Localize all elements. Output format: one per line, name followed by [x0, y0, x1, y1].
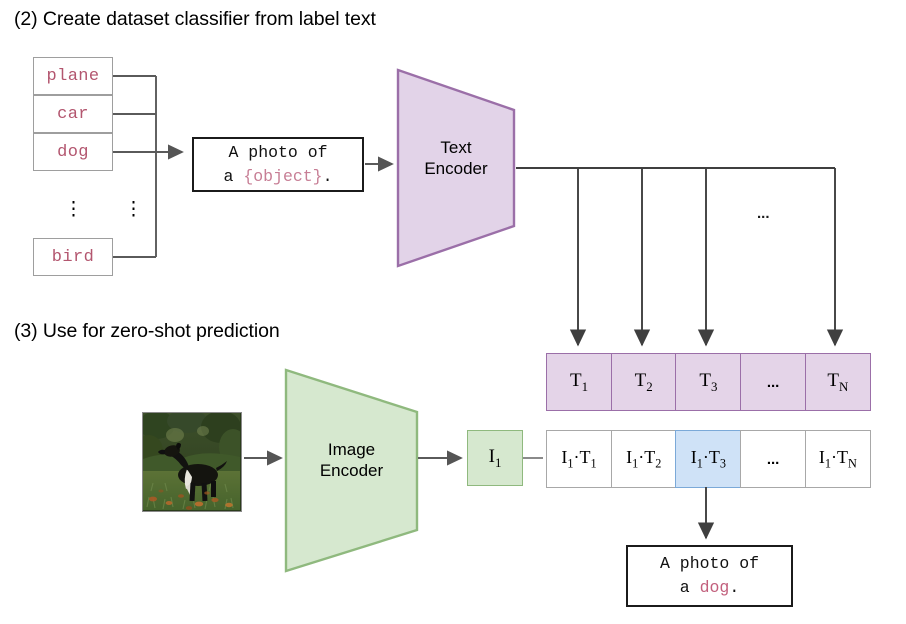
dot-product-cell-3-selected[interactable]: I1·T3	[675, 430, 741, 488]
label-text-dog: dog	[57, 143, 89, 162]
bus-ellipsis: ...	[757, 205, 770, 222]
input-photo-thumbnail[interactable]	[142, 412, 242, 512]
label-box-plane[interactable]: plane	[33, 57, 113, 95]
text-feature-cell-ellipsis: ...	[740, 353, 806, 411]
label-text-bird: bird	[52, 248, 94, 267]
output-line-2-suffix: .	[729, 578, 739, 597]
sub-t-1: 1	[591, 456, 597, 470]
heading-step-3: (3) Use for zero-shot prediction	[14, 320, 280, 343]
image-encoder[interactable]: Image Encoder	[284, 368, 419, 573]
output-line-2-prefix: a	[680, 578, 700, 597]
sub-i-2: 1	[632, 456, 638, 470]
label-box-dog[interactable]: dog	[33, 133, 113, 171]
label-text-car: car	[57, 105, 89, 124]
dot-product-label-ellipsis: ...	[767, 451, 780, 468]
text-feature-label-t2: T2	[635, 370, 653, 395]
text-feature-label-t1: T1	[570, 370, 588, 395]
vertical-ellipsis-labels: ⋮	[64, 200, 82, 219]
sub-i-1: 1	[567, 456, 573, 470]
text-encoder[interactable]: Text Encoder	[396, 68, 516, 268]
prediction-output-box[interactable]: A photo of a dog.	[626, 545, 793, 607]
text-feature-label-ellipsis: ...	[767, 374, 780, 391]
dog-photo-illustration	[143, 413, 240, 510]
sub-t-n: N	[848, 456, 857, 470]
prompt-line-2: a {object}.	[224, 165, 333, 189]
dot-product-cell-1[interactable]: I1·T1	[546, 430, 612, 488]
text-encoder-shape	[396, 68, 516, 268]
prompt-line-2-prefix: a	[224, 167, 244, 186]
output-dog-token: dog	[700, 578, 730, 597]
label-text-plane: plane	[46, 67, 99, 86]
prompt-line-2-suffix: .	[323, 167, 333, 186]
subscript-1: 1	[582, 378, 588, 393]
sub-t-2: 2	[655, 456, 661, 470]
output-line-1: A photo of	[660, 552, 759, 576]
text-feature-row: T1 T2 T3 ... TN	[546, 353, 871, 411]
text-feature-cell-t1[interactable]: T1	[546, 353, 612, 411]
prompt-line-1: A photo of	[228, 141, 327, 165]
clip-zero-shot-diagram: (2) Create dataset classifier from label…	[0, 0, 906, 624]
subscript-2: 2	[646, 378, 652, 393]
heading-step-2: (2) Create dataset classifier from label…	[14, 8, 376, 31]
dot-product-cell-ellipsis: ...	[740, 430, 806, 488]
label-box-bird[interactable]: bird	[33, 238, 113, 276]
prompt-object-token: {object}	[243, 167, 322, 186]
dot-product-cell-2[interactable]: I1·T2	[611, 430, 677, 488]
text-feature-cell-t2[interactable]: T2	[611, 353, 677, 411]
dot-product-label-3: I1·T3	[691, 447, 726, 472]
label-bracket-wires	[113, 76, 182, 257]
image-feature-label-i1: I1	[489, 446, 502, 471]
text-feature-cell-tn[interactable]: TN	[805, 353, 871, 411]
dot-product-cell-n[interactable]: I1·TN	[805, 430, 871, 488]
text-feature-label-tn: TN	[827, 370, 848, 395]
text-feature-label-t3: T3	[699, 370, 717, 395]
label-box-car[interactable]: car	[33, 95, 113, 133]
text-encoder-output-bus	[516, 168, 835, 345]
image-feature-box-i1[interactable]: I1	[467, 430, 523, 486]
image-encoder-shape	[284, 368, 419, 573]
prompt-template-box[interactable]: A photo of a {object}.	[192, 137, 364, 192]
text-feature-cell-t3[interactable]: T3	[675, 353, 741, 411]
dot-product-label-1: I1·T1	[561, 447, 596, 472]
subscript-n: N	[839, 378, 848, 393]
sub-t-3: 3	[720, 456, 726, 470]
dot-product-label-2: I1·T2	[626, 447, 661, 472]
sub-i-3: 1	[697, 456, 703, 470]
dot-product-label-n: I1·TN	[819, 447, 857, 472]
dot-product-row: I1·T1 I1·T2 I1·T3 ... I1·TN	[546, 430, 871, 488]
output-line-2: a dog.	[680, 576, 739, 600]
subscript-3: 3	[711, 378, 717, 393]
vertical-ellipsis-wires: ⋮	[124, 200, 142, 219]
sub-i-n: 1	[825, 456, 831, 470]
subscript-i1: 1	[495, 454, 501, 469]
